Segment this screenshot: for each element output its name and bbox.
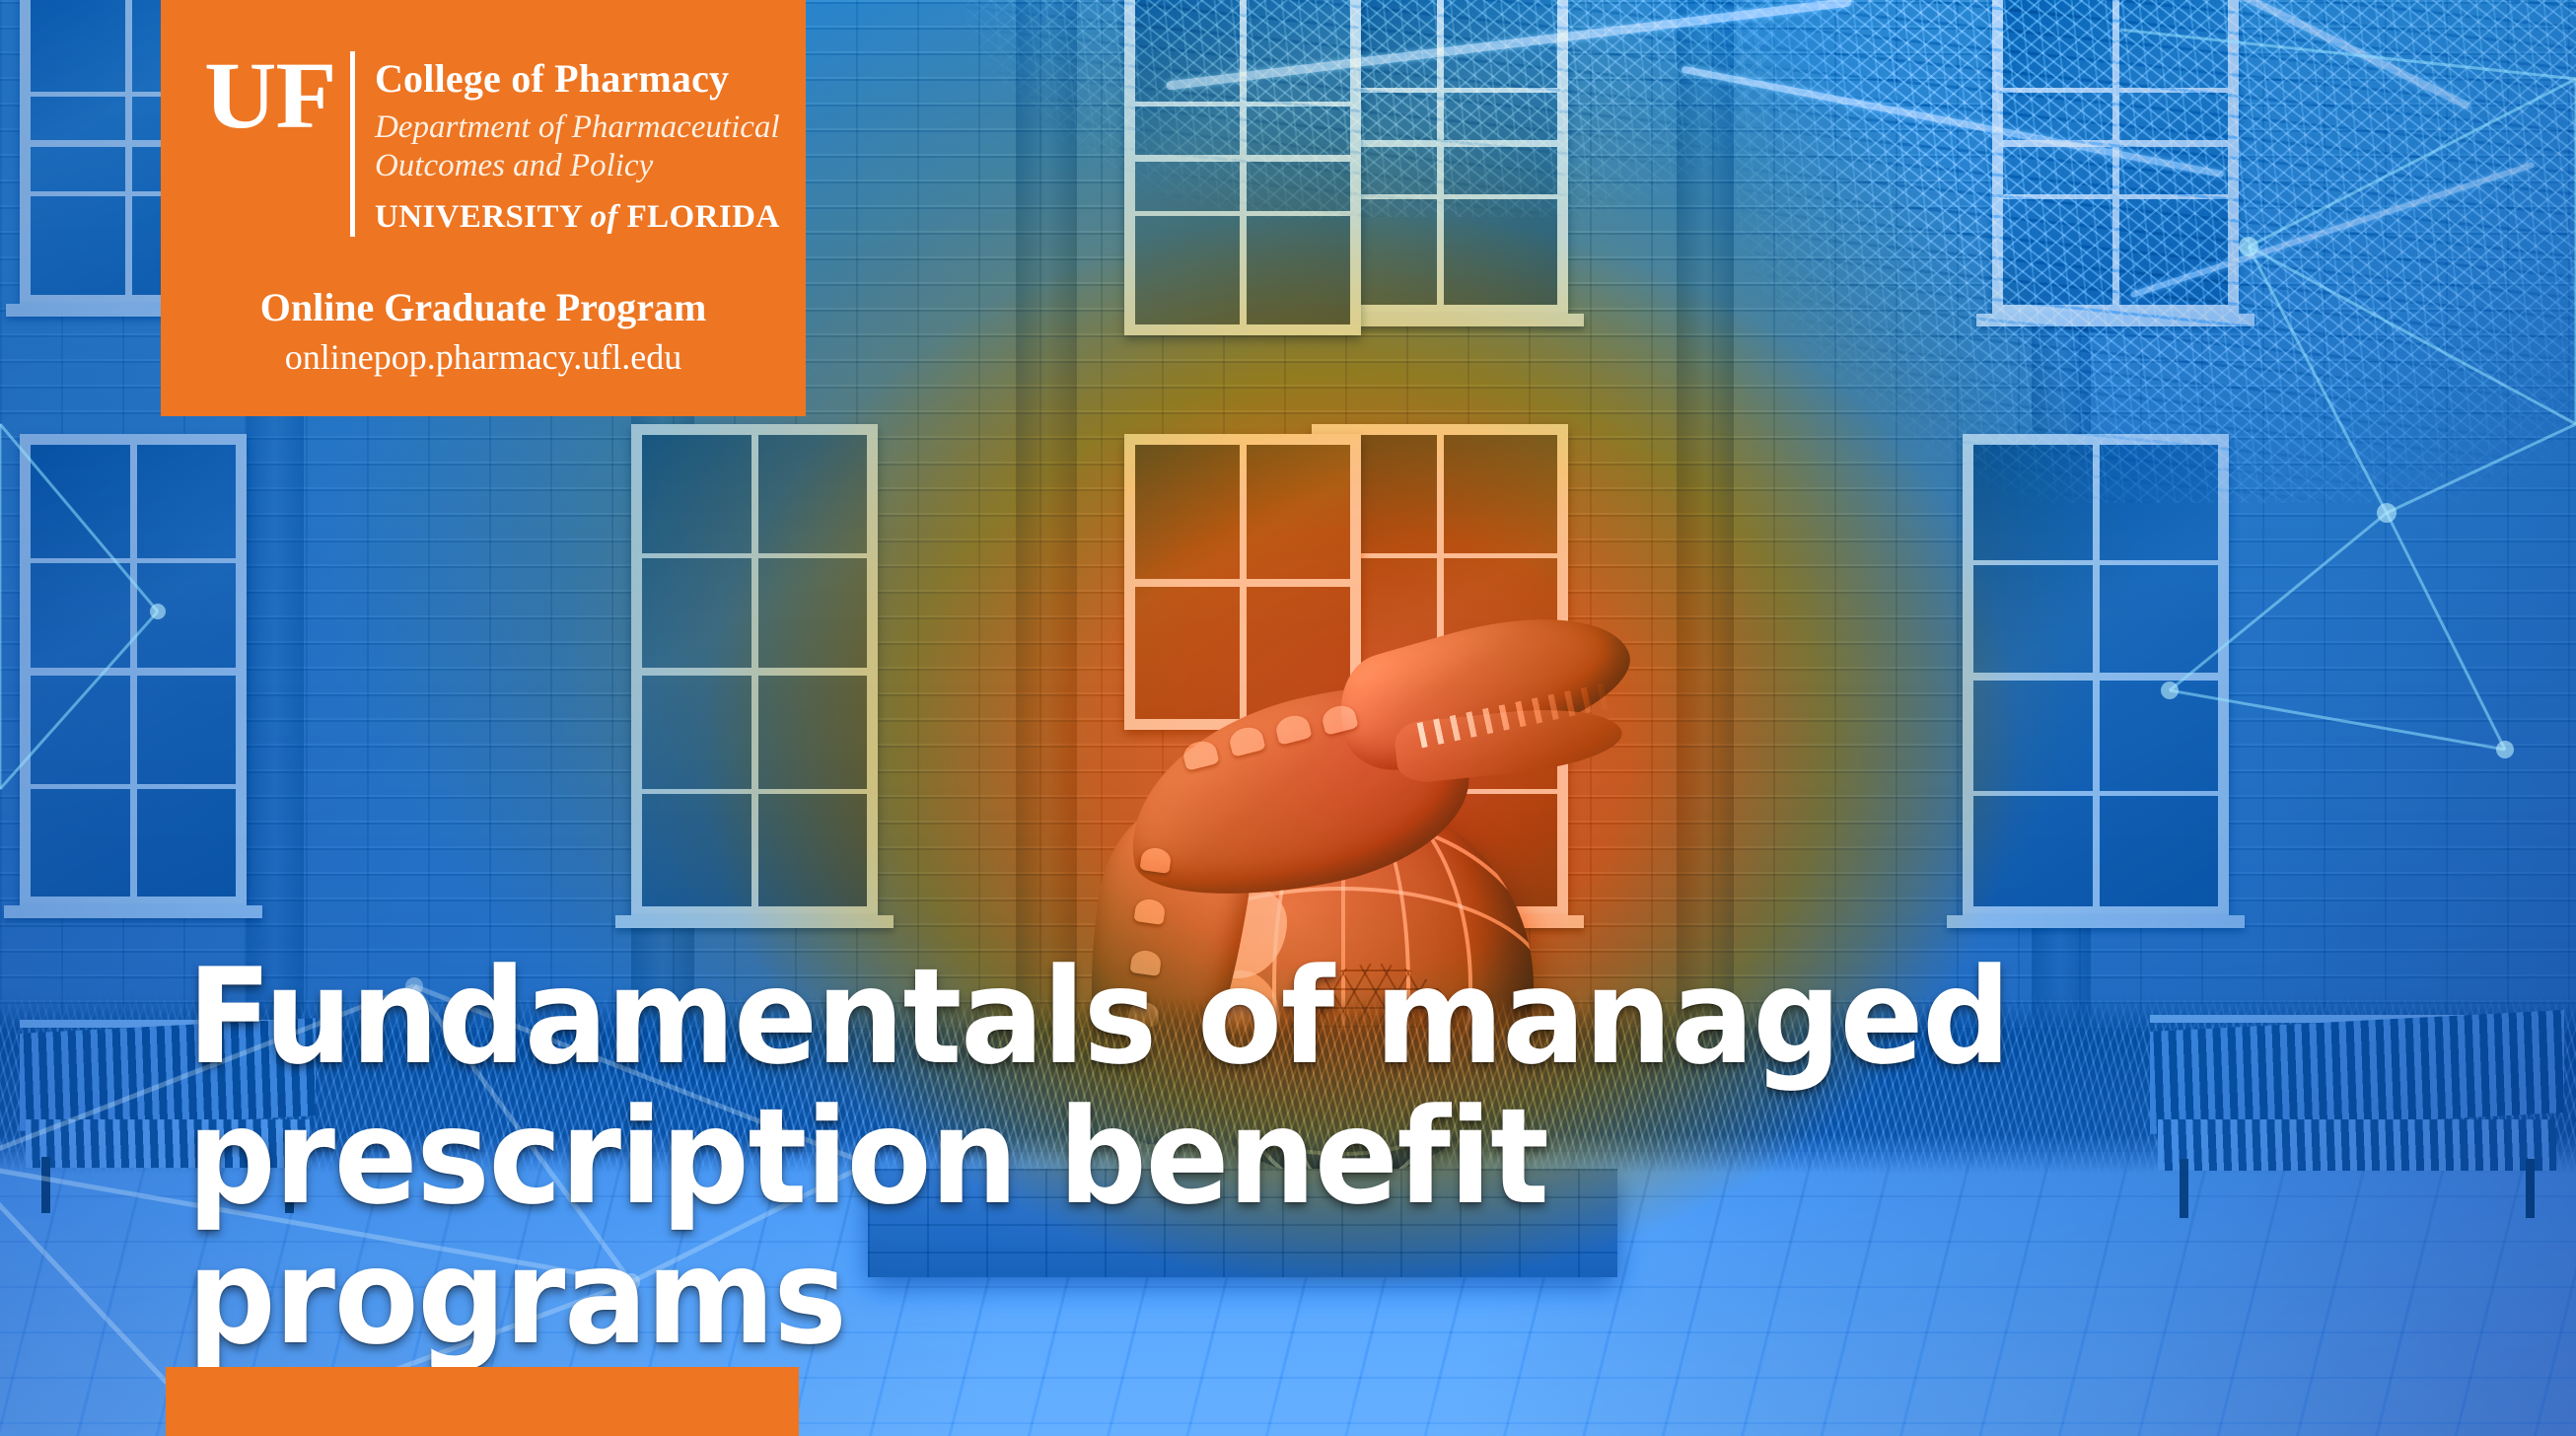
college-name: College of Pharmacy bbox=[375, 57, 780, 100]
uf-logo-block: UF College of Pharmacy Department of Pha… bbox=[161, 0, 806, 416]
bottom-accent-bar bbox=[166, 1367, 799, 1436]
department-line-2: Outcomes and Policy bbox=[375, 147, 780, 185]
university-pre: UNIVERSITY bbox=[375, 199, 591, 235]
lockup-text: College of Pharmacy Department of Pharma… bbox=[375, 55, 780, 235]
department-name: Department of Pharmaceutical Outcomes an… bbox=[375, 108, 780, 185]
presentation-slide: UF College of Pharmacy Department of Pha… bbox=[0, 0, 2576, 1436]
university-of: of bbox=[591, 199, 618, 235]
program-website[interactable]: onlinepop.pharmacy.ufl.edu bbox=[186, 336, 780, 379]
uf-monogram: UF bbox=[204, 55, 359, 135]
slide-title: Fundamentals of managed prescription ben… bbox=[187, 947, 2197, 1367]
uf-lockup: UF College of Pharmacy Department of Pha… bbox=[161, 55, 806, 237]
program-name: Online Graduate Program bbox=[186, 286, 780, 330]
university-post: FLORIDA bbox=[618, 199, 780, 235]
program-subblock: Online Graduate Program onlinepop.pharma… bbox=[161, 286, 806, 379]
university-name: UNIVERSITY of FLORIDA bbox=[375, 199, 780, 235]
department-line-1: Department of Pharmaceutical bbox=[375, 108, 780, 147]
